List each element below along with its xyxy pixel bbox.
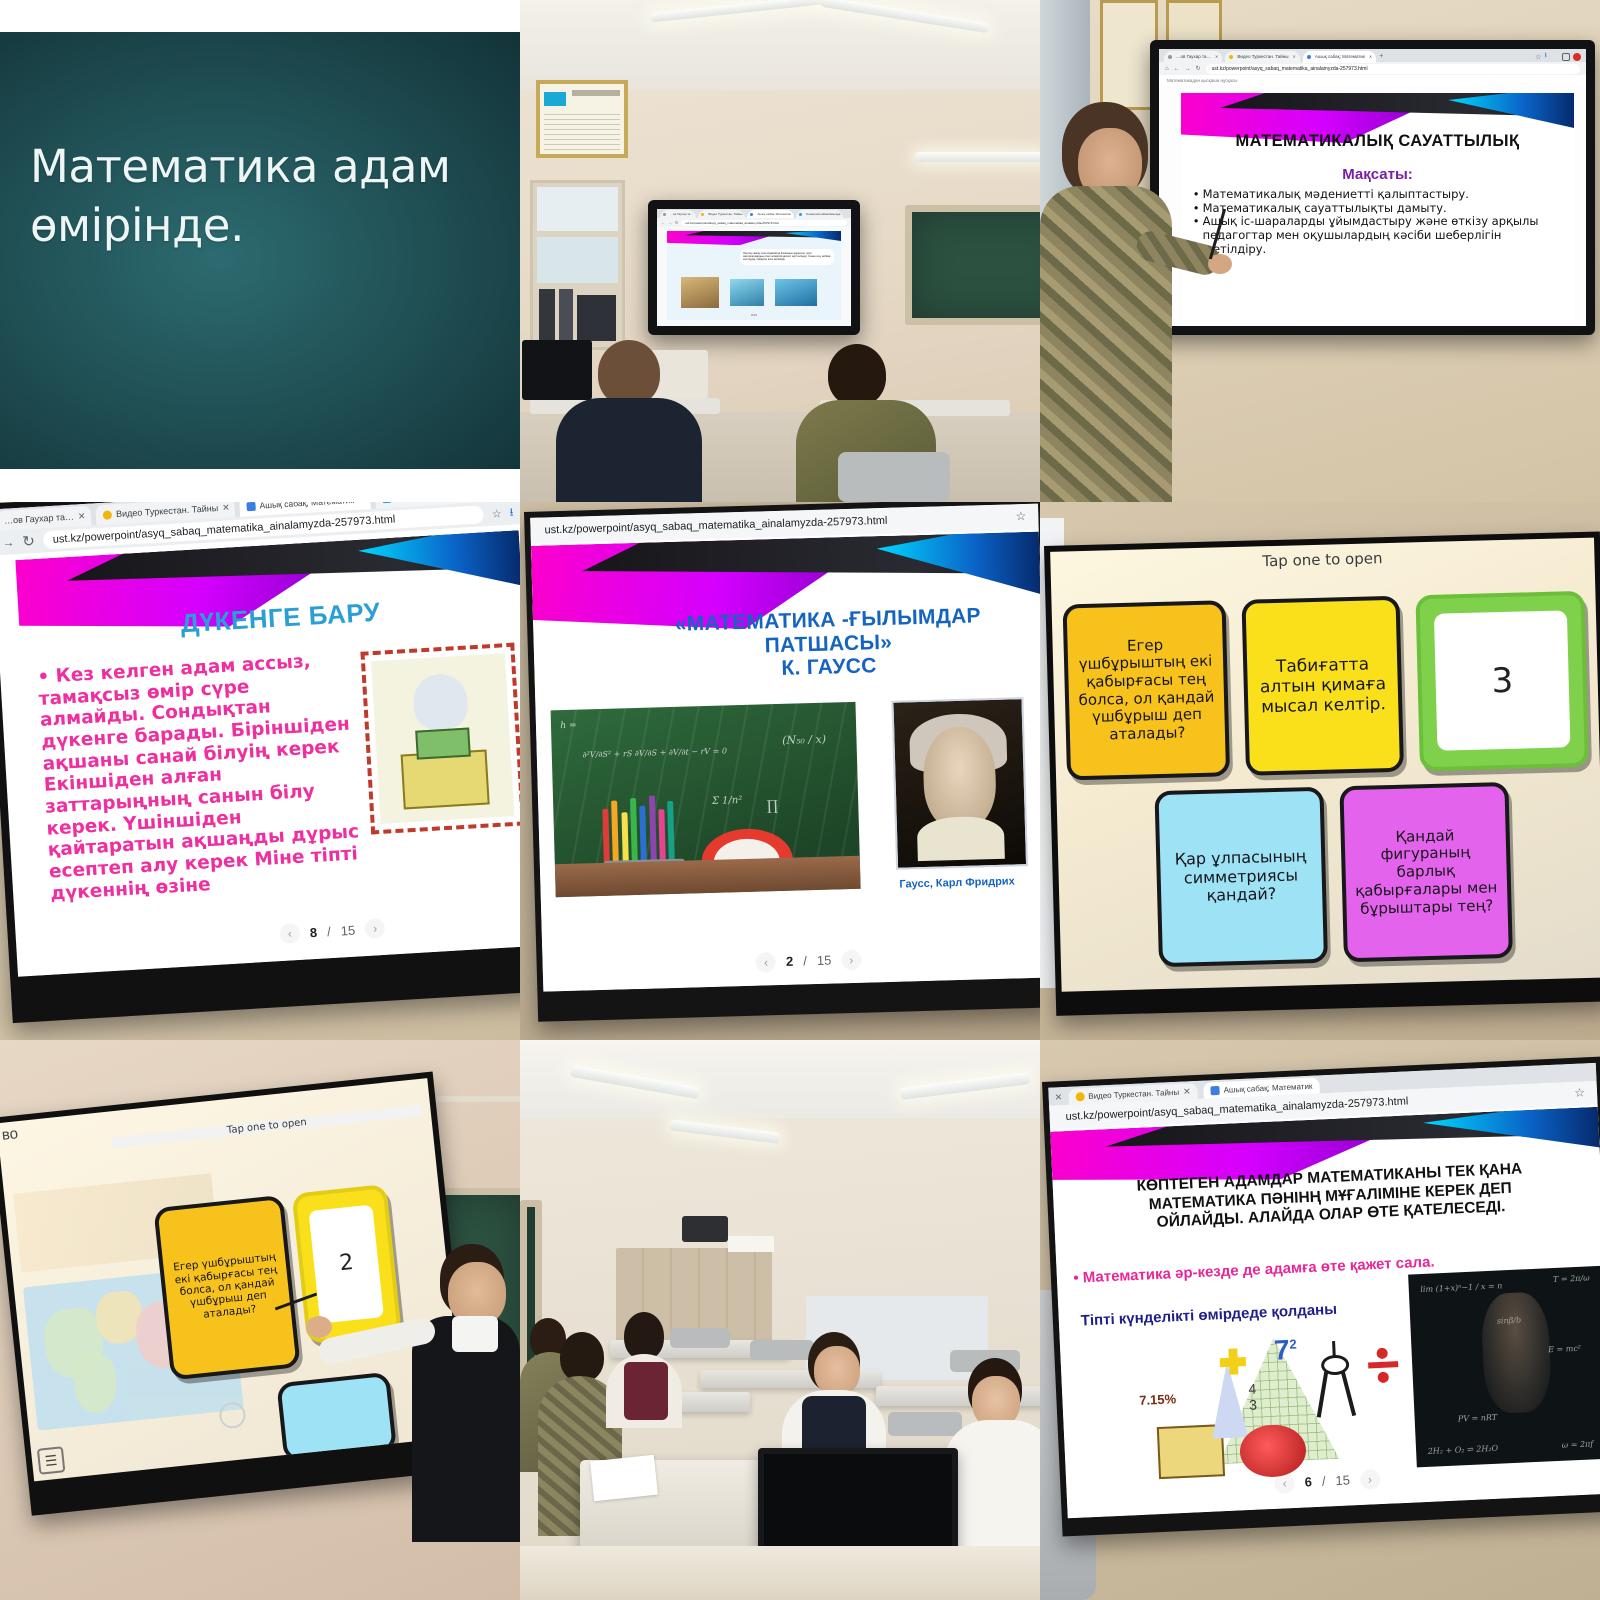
computer-monitor-left: [522, 340, 592, 400]
physics-blackboard-photo: lim (1+x)ⁿ−1 / x = n T = 2π/ω E = mc² PV…: [1408, 1265, 1600, 1467]
classroom-ceiling: [520, 0, 1040, 90]
bb-eq-2: T = 2π/ω: [1553, 1274, 1590, 1285]
title-slide: Математика адам өмірінде.: [0, 32, 520, 469]
seven-squared: 72: [1273, 1334, 1297, 1367]
home-icon[interactable]: ⌂: [1165, 66, 1169, 72]
prev-slide-button[interactable]: ‹: [279, 923, 300, 944]
interactive-panel-slide9: ✕ Видео Туркестан. Тайны✕ Ашық сабақ; Ма…: [1042, 1057, 1600, 1537]
student-body-left: [556, 398, 702, 502]
collage-cell-classroom-wide: …ов Гаухар та… Видео Туркестан. Тайны Аш…: [520, 0, 1040, 502]
percent-label: 7.15%: [1139, 1392, 1177, 1409]
shop-slide-image: [364, 647, 520, 830]
interactive-panel: …ов Гаухар та… Видео Туркестан. Тайны Аш…: [648, 200, 860, 335]
compass-icon: [1312, 1340, 1359, 1418]
bb-eq-4: PV = nRT: [1458, 1412, 1498, 1423]
download-icon[interactable]: ⭳: [509, 503, 514, 522]
menu-icon[interactable]: ☰: [37, 1446, 66, 1475]
quiz-card-4-text: Қар ұлпасының симметриясы қандай?: [1168, 847, 1314, 907]
back-icon[interactable]: ←: [661, 220, 665, 225]
wall-light: [915, 152, 1040, 162]
browser-chrome-small: …ов Гаухар та… Видео Туркестан. Тайны Аш…: [657, 209, 851, 227]
teacher-silhouette: [1480, 1291, 1552, 1414]
literacy-bullet-3: •Ашық іс-шараларды ұйымдастыру және өткі…: [1193, 215, 1566, 256]
bookmark-star-icon[interactable]: ☆: [1015, 509, 1026, 523]
chalk-eq-3: (N₅₀ / x): [782, 733, 826, 747]
prev-slide-button[interactable]: ‹: [1274, 1472, 1295, 1493]
chair-back-2: [750, 1340, 814, 1360]
back-icon[interactable]: ←: [1174, 66, 1180, 72]
gauss-caption: Гаусс, Карл Фридрих: [881, 875, 1034, 891]
smiley-icon: [218, 1401, 247, 1430]
page-current: 6: [1304, 1474, 1312, 1489]
reload-icon[interactable]: ↻: [675, 220, 678, 225]
forward-icon[interactable]: →: [1185, 66, 1191, 72]
quiz-board-small: во Tap one to open Егер үшбұрыштың екі қ…: [0, 1078, 465, 1481]
panel-screen-shop: …ов Гаухар та…✕ Видео Туркестан. Тайны✕ …: [0, 502, 520, 977]
panel-slide: Пештер жасау үшін Адамзатқа физиканы жұм…: [667, 231, 841, 320]
forward-icon[interactable]: →: [668, 220, 672, 225]
collage-cell-shop-slide: …ов Гаухар та…✕ Видео Туркестан. Тайны✕ …: [0, 502, 520, 1040]
download-icon[interactable]: ⭳: [1545, 51, 1547, 62]
page-current: 8: [309, 925, 317, 940]
title-line-1: Математика адам: [30, 137, 500, 196]
panel-screen: …ов Гаухар та… Видео Туркестан. Тайны Аш…: [657, 209, 851, 326]
interactive-panel-large: …ов Гаухар та…✕ Видео Туркестан. Тайны✕ …: [1150, 40, 1595, 335]
page-separator: /: [803, 953, 807, 968]
tab-count-icon[interactable]: [1562, 53, 1570, 61]
shop-slide: ДҮКЕНГЕ БАРУ • Кез келген адам ассыз, та…: [15, 530, 520, 975]
reload-icon[interactable]: ↻: [1196, 65, 1201, 72]
bookshelf: [530, 180, 625, 350]
collage-cell-gauss-slide: ust.kz/powerpoint/asyq_sabaq_matematika_…: [520, 502, 1040, 1040]
everyday-slide-pager: ‹ 6 / 15 ›: [1274, 1469, 1380, 1494]
fraction-label: 4 3: [1248, 1382, 1257, 1413]
quiz-card-3[interactable]: 3: [1416, 591, 1589, 771]
prev-slide-button[interactable]: ‹: [756, 952, 777, 973]
student-head-3: [624, 1312, 664, 1360]
interactive-panel-tilted: …ов Гаухар та…✕ Видео Туркестан. Тайны✕ …: [0, 502, 520, 1023]
green-chalkboard: [905, 205, 1040, 325]
title-line-2: өмірінде.: [30, 196, 500, 255]
chalk-eq-5: ∏: [767, 798, 779, 814]
page-separator: /: [1322, 1474, 1326, 1489]
quiz-card-1[interactable]: Егер үшбұрыштың екі қабырғасы тең болса,…: [1062, 600, 1230, 780]
chalk-eq-1: h =: [560, 721, 576, 731]
profile-icon[interactable]: [1573, 53, 1581, 61]
quiz-card-2-text: Табиғатта алтын қимаға мысал келтір.: [1255, 654, 1390, 718]
chalk-eq-2: ∂²V/∂S² + rS ∂V/∂S + ∂V/∂t − rV = 0: [582, 747, 727, 760]
quiz-card-2[interactable]: Табиғатта алтын қимаға мысал келтір.: [1242, 596, 1404, 776]
address-bar[interactable]: ust.kz/powerpoint/asyq_sabaq_matematika_…: [1206, 64, 1580, 74]
collage-cell-title-slide: Математика адам өмірінде.: [0, 0, 520, 502]
plus-sign: [1219, 1348, 1246, 1375]
next-slide-button[interactable]: ›: [841, 949, 862, 970]
collage-cell-quiz-cards: Tap one to open Егер үшбұрыштың екі қабы…: [1040, 502, 1600, 1040]
student-head-left: [598, 340, 660, 406]
quiz-card-3-number: 3: [1434, 610, 1571, 751]
bb-eq-5: 2H₂ + O₂ ⇌ 2H₂O: [1427, 1443, 1498, 1455]
student-head-2: [560, 1332, 604, 1382]
gauss-slide: «МАТЕМАТИКА -ҒЫЛЫМДАР ПАТШАСЫ» К. ГАУСС …: [531, 532, 1040, 992]
bookmark-star-icon[interactable]: ☆: [491, 507, 502, 521]
chair-back-4: [888, 1412, 962, 1436]
page-total: 15: [340, 923, 355, 939]
new-tab-button[interactable]: +: [1379, 53, 1383, 60]
desk-surface-front: [520, 1546, 1040, 1600]
wall-poster: [536, 80, 628, 158]
bb-eq-3: E = mc²: [1548, 1344, 1581, 1354]
bb-eq-1: lim (1+x)ⁿ−1 / x = n: [1420, 1282, 1502, 1295]
quiz-card-number-text: 2: [309, 1204, 385, 1323]
tab-close-icon[interactable]: ✕: [1054, 1092, 1062, 1103]
divide-sign: [1367, 1348, 1399, 1383]
chair-right: [838, 452, 950, 502]
literacy-bullet-2: •Математикалық сауаттылықты дамыту.: [1193, 202, 1566, 216]
student-body-5: [944, 1420, 1040, 1560]
panel-screen-large: …ов Гаухар та…✕ Видео Туркестан. Тайны✕ …: [1159, 49, 1586, 326]
interactive-panel-quiz: Tap one to open Егер үшбұрыштың екі қабы…: [1044, 531, 1600, 1015]
panel-screen-gauss: ust.kz/powerpoint/asyq_sabaq_matematika_…: [530, 504, 1040, 992]
chalkboard-photo: h = ∂²V/∂S² + rS ∂V/∂S + ∂V/∂t − rV = 0 …: [551, 702, 861, 898]
chalk-eq-4: Σ 1/n²: [712, 795, 743, 807]
gauss-slide-title: «МАТЕМАТИКА -ҒЫЛЫМДАР ПАТШАСЫ» К. ГАУСС: [624, 603, 1032, 685]
page-current: 2: [786, 954, 794, 969]
collage-cell-boy-quiz: во Tap one to open Егер үшбұрыштың екі қ…: [0, 1040, 520, 1600]
panel-screen-slide9: ✕ Видео Туркестан. Тайны✕ Ашық сабақ; Ма…: [1048, 1063, 1600, 1518]
chair-back-1: [670, 1328, 730, 1348]
browser-chrome: …ов Гаухар та…✕ Видео Туркестан. Тайны✕ …: [1159, 49, 1586, 86]
boy-presenting-photo: …ов Гаухар та…✕ Видео Туркестан. Тайны✕ …: [1040, 0, 1600, 502]
gauss-slide-pager: ‹ 2 / 15 ›: [756, 949, 862, 972]
collage-cell-boy-presenting: …ов Гаухар та…✕ Видео Туркестан. Тайны✕ …: [1040, 0, 1600, 502]
literacy-slide-title: МАТЕМАТИКАЛЫҚ САУАТТЫЛЫҚ: [1189, 132, 1566, 151]
classroom-photo: …ов Гаухар та… Видео Туркестан. Тайны Аш…: [520, 0, 1040, 502]
next-slide-button[interactable]: ›: [365, 918, 386, 939]
wall-rail: [430, 1096, 520, 1102]
address-bar[interactable]: ust.kz/powerpoint/asyq_sabaq_matematika_…: [681, 220, 847, 226]
corner-label: во: [1, 1125, 19, 1144]
wall-projector: [682, 1216, 728, 1242]
printer-paper: [590, 1455, 658, 1501]
shop-slide-pager: ‹ 8 / 15 ›: [279, 918, 385, 944]
bookmark-star-icon[interactable]: ☆: [1535, 53, 1541, 61]
boy-shirt-collar: [452, 1316, 498, 1352]
quiz-board: Tap one to open Егер үшбұрыштың екі қабы…: [1050, 538, 1600, 992]
bookmark-star-icon[interactable]: ☆: [1574, 1085, 1585, 1099]
quiz-hint: Tap one to open: [1050, 544, 1594, 576]
everyday-subline: Тіпті күнделікті өмірдеде қолданы: [1080, 1301, 1337, 1330]
quiz-card-4[interactable]: Қар ұлпасының симметриясы қандай?: [1154, 787, 1327, 967]
page-separator: /: [327, 924, 332, 939]
page-total: 15: [817, 953, 832, 968]
literacy-bullet-1: •Математикалық мәдениетті қалыптастыру.: [1193, 188, 1566, 202]
collage-cell-everyday-math-slide: ✕ Видео Туркестан. Тайны✕ Ашық сабақ; Ма…: [1040, 1040, 1600, 1600]
quiz-card-5-text: Қандай фигураның барлық қабырғалары мен …: [1352, 826, 1499, 918]
shop-slide-body: • Кез келген адам ассыз, тамақсыз өмір с…: [37, 648, 368, 904]
quiz-card-5[interactable]: Қандай фигураның барлық қабырғалары мен …: [1339, 782, 1512, 962]
student-face-4: [814, 1346, 860, 1396]
photo-collage: Математика адам өмірінде.: [0, 0, 1600, 1600]
quiz-card-highlight[interactable]: Егер үшбұрыштың екі қабырғасы тең болса,…: [154, 1195, 301, 1380]
boy-hand: [306, 1316, 332, 1338]
quiz-card-1-text: Егер үшбұрыштың екі қабырғасы тең болса,…: [1075, 635, 1217, 745]
quiz-hint-small: Tap one to open: [111, 1105, 422, 1149]
title-slide-text: Математика адам өмірінде.: [30, 137, 500, 256]
quiz-card-highlight-text: Егер үшбұрыштың екі қабырғасы тең болса,…: [171, 1251, 283, 1324]
students-photo: [520, 1040, 1040, 1600]
literacy-slide-subtitle: Мақсаты:: [1181, 166, 1574, 183]
collage-cell-students-seated: [520, 1040, 1040, 1600]
extensions-icon[interactable]: [1550, 53, 1559, 60]
gauss-portrait: [891, 697, 1028, 870]
interactive-panel-gauss: ust.kz/powerpoint/asyq_sabaq_matematika_…: [524, 502, 1040, 1022]
literacy-slide: МАТЕМАТИКАЛЫҚ САУАТТЫЛЫҚ Мақсаты: •Матем…: [1181, 93, 1574, 320]
student-vest-3: [624, 1362, 668, 1420]
bb-eq-6: ω = 2πf: [1561, 1439, 1593, 1449]
page-subtitle: Математикадан қысқаша нұсқасы: [1159, 75, 1586, 86]
student-head-right: [828, 344, 886, 406]
reload-icon[interactable]: ↻: [22, 532, 36, 551]
interactive-panel-quiz-small: во Tap one to open Егер үшбұрыштың екі қ…: [0, 1071, 474, 1515]
quiz-card-blue-partial[interactable]: [276, 1372, 396, 1463]
page-total: 15: [1335, 1472, 1350, 1488]
everyday-math-slide: КӨПТЕГЕН АДАМДАР МАТЕМАТИКАНЫ ТЕК ҚАНА М…: [1050, 1107, 1600, 1518]
paper-stack: [728, 1236, 774, 1252]
panel-slide-text: Пештер жасау үшін Адамзатқа физиканы жұм…: [740, 249, 834, 265]
forward-icon[interactable]: →: [2, 535, 15, 550]
next-slide-button[interactable]: ›: [1359, 1469, 1380, 1490]
